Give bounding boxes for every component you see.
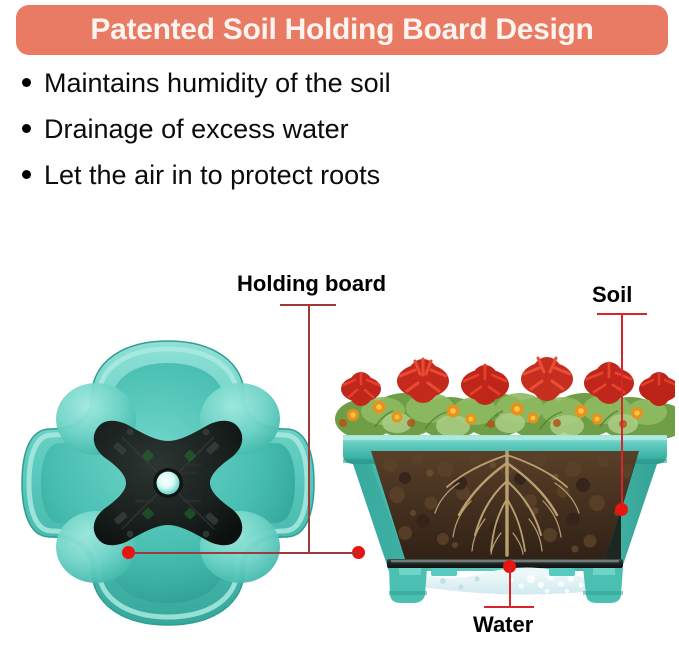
leader-holding-board-vertical bbox=[308, 304, 310, 553]
marker-holding-board-left bbox=[122, 546, 135, 559]
page-title: Patented Soil Holding Board Design bbox=[90, 15, 593, 45]
callout-label-water: Water bbox=[473, 612, 533, 638]
header-banner: Patented Soil Holding Board Design bbox=[16, 5, 668, 55]
planter-cross-section bbox=[335, 323, 675, 623]
feature-text: Maintains humidity of the soil bbox=[44, 70, 391, 97]
callout-label-holding-board: Holding board bbox=[237, 271, 386, 297]
leader-water-cap bbox=[484, 606, 534, 608]
list-item: Maintains humidity of the soil bbox=[22, 70, 522, 116]
bullet-dot-icon bbox=[22, 170, 31, 179]
planter-top-view bbox=[18, 333, 318, 633]
marker-soil bbox=[615, 503, 628, 516]
bullet-dot-icon bbox=[22, 124, 31, 133]
list-item: Drainage of excess water bbox=[22, 116, 522, 162]
leader-water-vertical bbox=[509, 566, 511, 607]
feature-text: Drainage of excess water bbox=[44, 116, 349, 143]
leader-holding-board-horizontal-right bbox=[308, 552, 360, 554]
feature-list: Maintains humidity of the soil Drainage … bbox=[22, 70, 522, 208]
leader-holding-board-horizontal bbox=[128, 552, 310, 554]
bullet-dot-icon bbox=[22, 78, 31, 87]
product-diagram: Holding board Soil Water bbox=[0, 255, 679, 646]
list-item: Let the air in to protect roots bbox=[22, 162, 522, 208]
callout-label-soil: Soil bbox=[592, 282, 632, 308]
plant-foliage bbox=[335, 357, 679, 439]
feature-text: Let the air in to protect roots bbox=[44, 162, 380, 189]
leader-soil-vertical bbox=[621, 313, 623, 509]
